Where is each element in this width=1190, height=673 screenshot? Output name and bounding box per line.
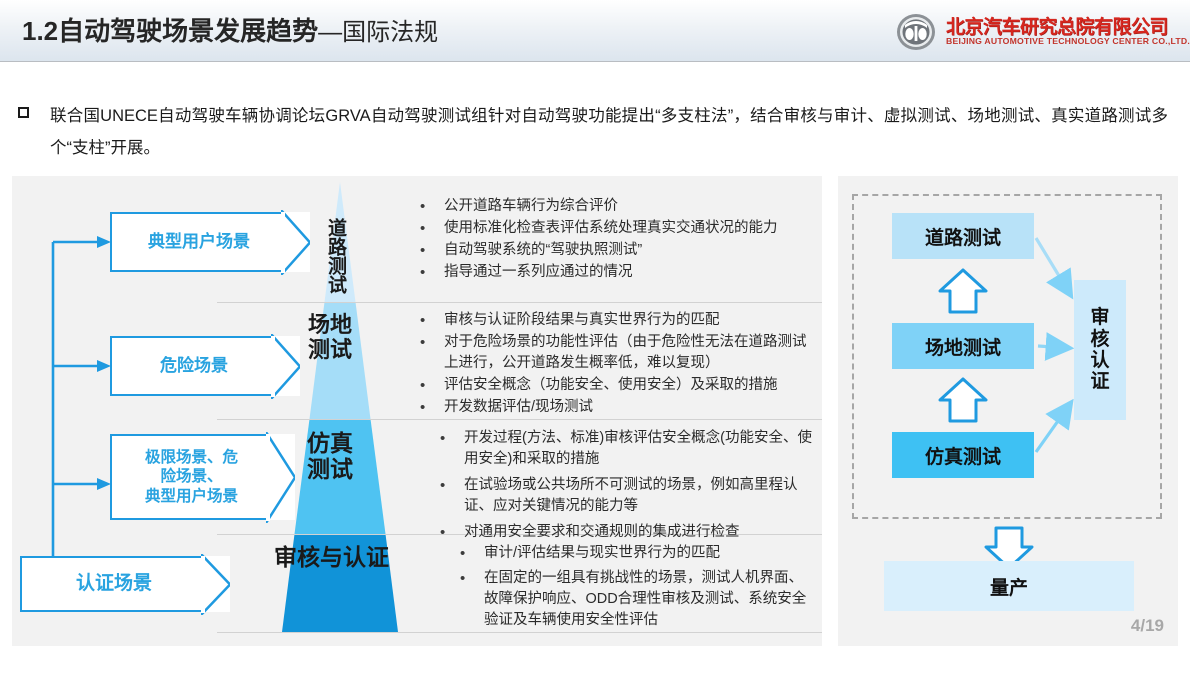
company-logo: 北京汽车研究总院有限公司 BEIJING AUTOMOTIVE TECHNOLO… <box>896 10 1172 54</box>
bullet-item: •对于危险场景的功能性评估（由于危险性无法在道路测试上进行，公开道路发生概率低，… <box>420 332 815 374</box>
logo-company-name-en: BEIJING AUTOMOTIVE TECHNOLOGY CENTER CO.… <box>946 36 1190 46</box>
callout-hazard-scenario[interactable]: 危险场景 <box>110 336 300 396</box>
bullet-text: 开发过程(方法、标准)审核评估安全概念(功能安全、使用安全)和采取的措施 <box>464 428 815 470</box>
bullet-dot-icon: • <box>420 262 425 283</box>
certification-flow-panel: 道路测试 场地测试 仿真测试 审核认证 量产 4/19 <box>838 176 1178 646</box>
bullet-dot-icon: • <box>420 196 425 217</box>
pyramid-panel: 道路测试 场地测试 仿真测试 审核与认证 典型用户场景 危险场景 <box>12 176 822 646</box>
callout-label: 危险场景 <box>160 355 250 376</box>
page-number: 4/19 <box>1131 616 1164 636</box>
callout-label: 典型用户场景 <box>148 231 272 252</box>
hollow-square-bullet-icon <box>18 107 29 118</box>
bullet-dot-icon: • <box>420 397 425 418</box>
page-title-main: 1.2自动驾驶场景发展趋势 <box>22 16 318 46</box>
lead-paragraph: 联合国UNECE自动驾驶车辆协调论坛GRVA自动驾驶测试组针对自动驾驶功能提出“… <box>18 100 1168 164</box>
flow-box-certification-text: 审核认证 <box>1089 307 1112 392</box>
chevron-right-icon <box>266 432 295 523</box>
bullet-text: 对通用安全要求和交通规则的集成进行检查 <box>464 522 815 543</box>
bullet-dot-icon: • <box>440 522 445 543</box>
slide-header: 1.2自动驾驶场景发展趋势—国际法规 北京汽车研究总院有限公司 BEIJING … <box>0 0 1190 62</box>
bullet-text: 开发数据评估/现场测试 <box>444 397 815 418</box>
up-arrow-icon <box>940 270 986 312</box>
flow-box-certification[interactable]: 审核认证 <box>1074 280 1126 420</box>
bullet-item: •在试验场或公共场所不可测试的场景，例如高里程认证、应对关键情况的能力等 <box>440 475 815 517</box>
bullet-text: 评估安全概念（功能安全、使用安全）及采取的措施 <box>444 375 815 396</box>
bullet-dot-icon: • <box>420 332 425 353</box>
bullet-group-field: •审核与认证阶段结果与真实世界行为的匹配 •对于危险场景的功能性评估（由于危险性… <box>420 310 815 419</box>
callout-label: 极限场景、危 险场景、 典型用户场景 <box>145 448 260 506</box>
flow-box-road-test[interactable]: 道路测试 <box>892 213 1034 259</box>
bullet-dot-icon: • <box>420 240 425 261</box>
bullet-dot-icon: • <box>460 543 465 564</box>
flow-box-field-test[interactable]: 场地测试 <box>892 323 1034 369</box>
bullet-item: •开发数据评估/现场测试 <box>420 397 815 418</box>
bullet-text: 使用标准化检查表评估系统处理真实交通状况的能力 <box>444 218 810 239</box>
callout-certification-scenario[interactable]: 认证场景 <box>20 556 230 612</box>
bullet-item: •审计/评估结果与现实世界行为的匹配 <box>460 543 810 564</box>
bullet-dot-icon: • <box>420 218 425 239</box>
chevron-right-icon <box>201 554 230 615</box>
bullet-item: •公开道路车辆行为综合评价 <box>420 196 810 217</box>
bullet-text: 审核与认证阶段结果与真实世界行为的匹配 <box>444 310 815 331</box>
logo-company-name-cn: 北京汽车研究总院有限公司 <box>946 12 1168 39</box>
chevron-right-icon <box>271 334 300 399</box>
bullet-dot-icon: • <box>420 310 425 331</box>
callout-edge-hazard-typical-scenario[interactable]: 极限场景、危 险场景、 典型用户场景 <box>110 434 295 520</box>
bullet-dot-icon: • <box>420 375 425 396</box>
chevron-right-icon <box>281 210 310 275</box>
beiqi-logo-icon <box>896 13 936 51</box>
bullet-group-sim: •开发过程(方法、标准)审核评估安全概念(功能安全、使用安全)和采取的措施 •在… <box>440 428 815 544</box>
bullet-item: •对通用安全要求和交通规则的集成进行检查 <box>440 522 815 543</box>
bullet-text: 公开道路车辆行为综合评价 <box>444 196 810 217</box>
bullet-text: 对于危险场景的功能性评估（由于危险性无法在道路测试上进行，公开道路发生概率低，难… <box>444 332 815 374</box>
bullet-group-cert: •审计/评估结果与现实世界行为的匹配 •在固定的一组具有挑战性的场景，测试人机界… <box>460 543 810 632</box>
bullet-item: •评估安全概念（功能安全、使用安全）及采取的措施 <box>420 375 815 396</box>
bullet-dot-icon: • <box>440 428 445 449</box>
bullet-item: •开发过程(方法、标准)审核评估安全概念(功能安全、使用安全)和采取的措施 <box>440 428 815 470</box>
bullet-item: •审核与认证阶段结果与真实世界行为的匹配 <box>420 310 815 331</box>
flow-box-simulation-test[interactable]: 仿真测试 <box>892 432 1034 478</box>
bullet-item: •自动驾驶系统的“驾驶执照测试” <box>420 240 810 261</box>
bullet-dot-icon: • <box>460 568 465 589</box>
bullet-text: 自动驾驶系统的“驾驶执照测试” <box>444 240 810 261</box>
bullet-item: •使用标准化检查表评估系统处理真实交通状况的能力 <box>420 218 810 239</box>
flow-box-mass-production[interactable]: 量产 <box>884 561 1134 611</box>
bullet-text: 指导通过一系列应通过的情况 <box>444 262 810 283</box>
bullet-item: •在固定的一组具有挑战性的场景，测试人机界面、故障保护响应、ODD合理性审核及测… <box>460 568 810 631</box>
bullet-item: •指导通过一系列应通过的情况 <box>420 262 810 283</box>
up-arrow-icon <box>940 379 986 421</box>
bullet-text: 在固定的一组具有挑战性的场景，测试人机界面、故障保护响应、ODD合理性审核及测试… <box>484 568 810 631</box>
page-title-sub: —国际法规 <box>318 19 438 46</box>
bullet-text: 在试验场或公共场所不可测试的场景，例如高里程认证、应对关键情况的能力等 <box>464 475 815 517</box>
bullet-dot-icon: • <box>440 475 445 496</box>
callout-typical-user-scenario[interactable]: 典型用户场景 <box>110 212 310 272</box>
bullet-text: 审计/评估结果与现实世界行为的匹配 <box>484 543 810 564</box>
lead-paragraph-text: 联合国UNECE自动驾驶车辆协调论坛GRVA自动驾驶测试组针对自动驾驶功能提出“… <box>50 100 1168 164</box>
bullet-group-road: •公开道路车辆行为综合评价 •使用标准化检查表评估系统处理真实交通状况的能力 •… <box>420 196 810 284</box>
page-title: 1.2自动驾驶场景发展趋势—国际法规 <box>22 13 438 54</box>
callout-label: 认证场景 <box>76 572 174 596</box>
